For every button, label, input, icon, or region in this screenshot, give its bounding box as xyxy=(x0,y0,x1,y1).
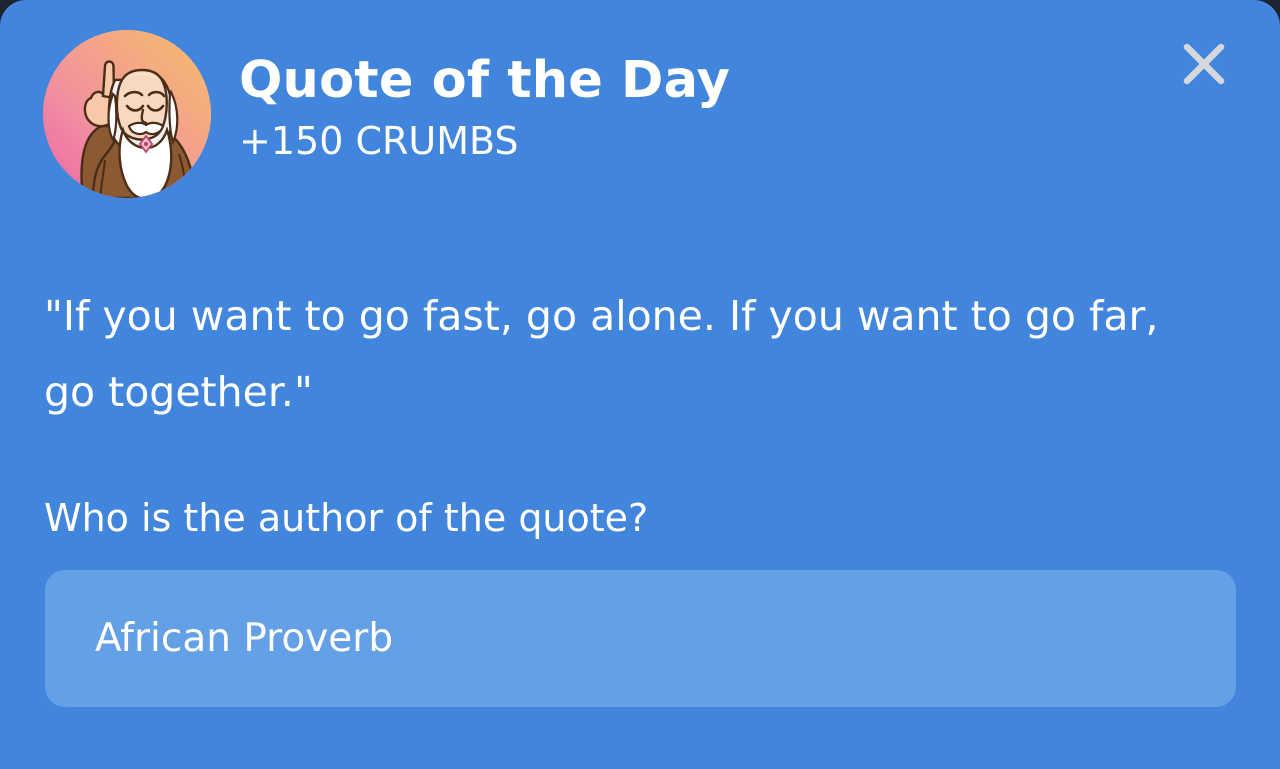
sage-avatar-icon xyxy=(43,30,211,198)
page-title: Quote of the Day xyxy=(239,52,1059,110)
avatar xyxy=(43,30,211,198)
answer-option-0[interactable]: African Proverb xyxy=(45,570,1236,707)
question-text: Who is the author of the quote? xyxy=(44,490,1194,546)
answer-options-list: African Proverb xyxy=(45,570,1236,707)
quote-text: "If you want to go fast, go alone. If yo… xyxy=(44,278,1159,430)
reward-badge: +150 CRUMBS xyxy=(239,118,1059,164)
app-root: Quote of the Day +150 CRUMBS "If you wan… xyxy=(0,0,1280,769)
quote-of-the-day-modal: Quote of the Day +150 CRUMBS "If you wan… xyxy=(0,0,1280,769)
close-button[interactable] xyxy=(1173,33,1235,95)
close-icon xyxy=(1178,38,1230,90)
header-text-group: Quote of the Day +150 CRUMBS xyxy=(239,52,1059,164)
modal-header: Quote of the Day +150 CRUMBS xyxy=(43,30,1243,200)
answer-option-label: African Proverb xyxy=(95,615,393,663)
